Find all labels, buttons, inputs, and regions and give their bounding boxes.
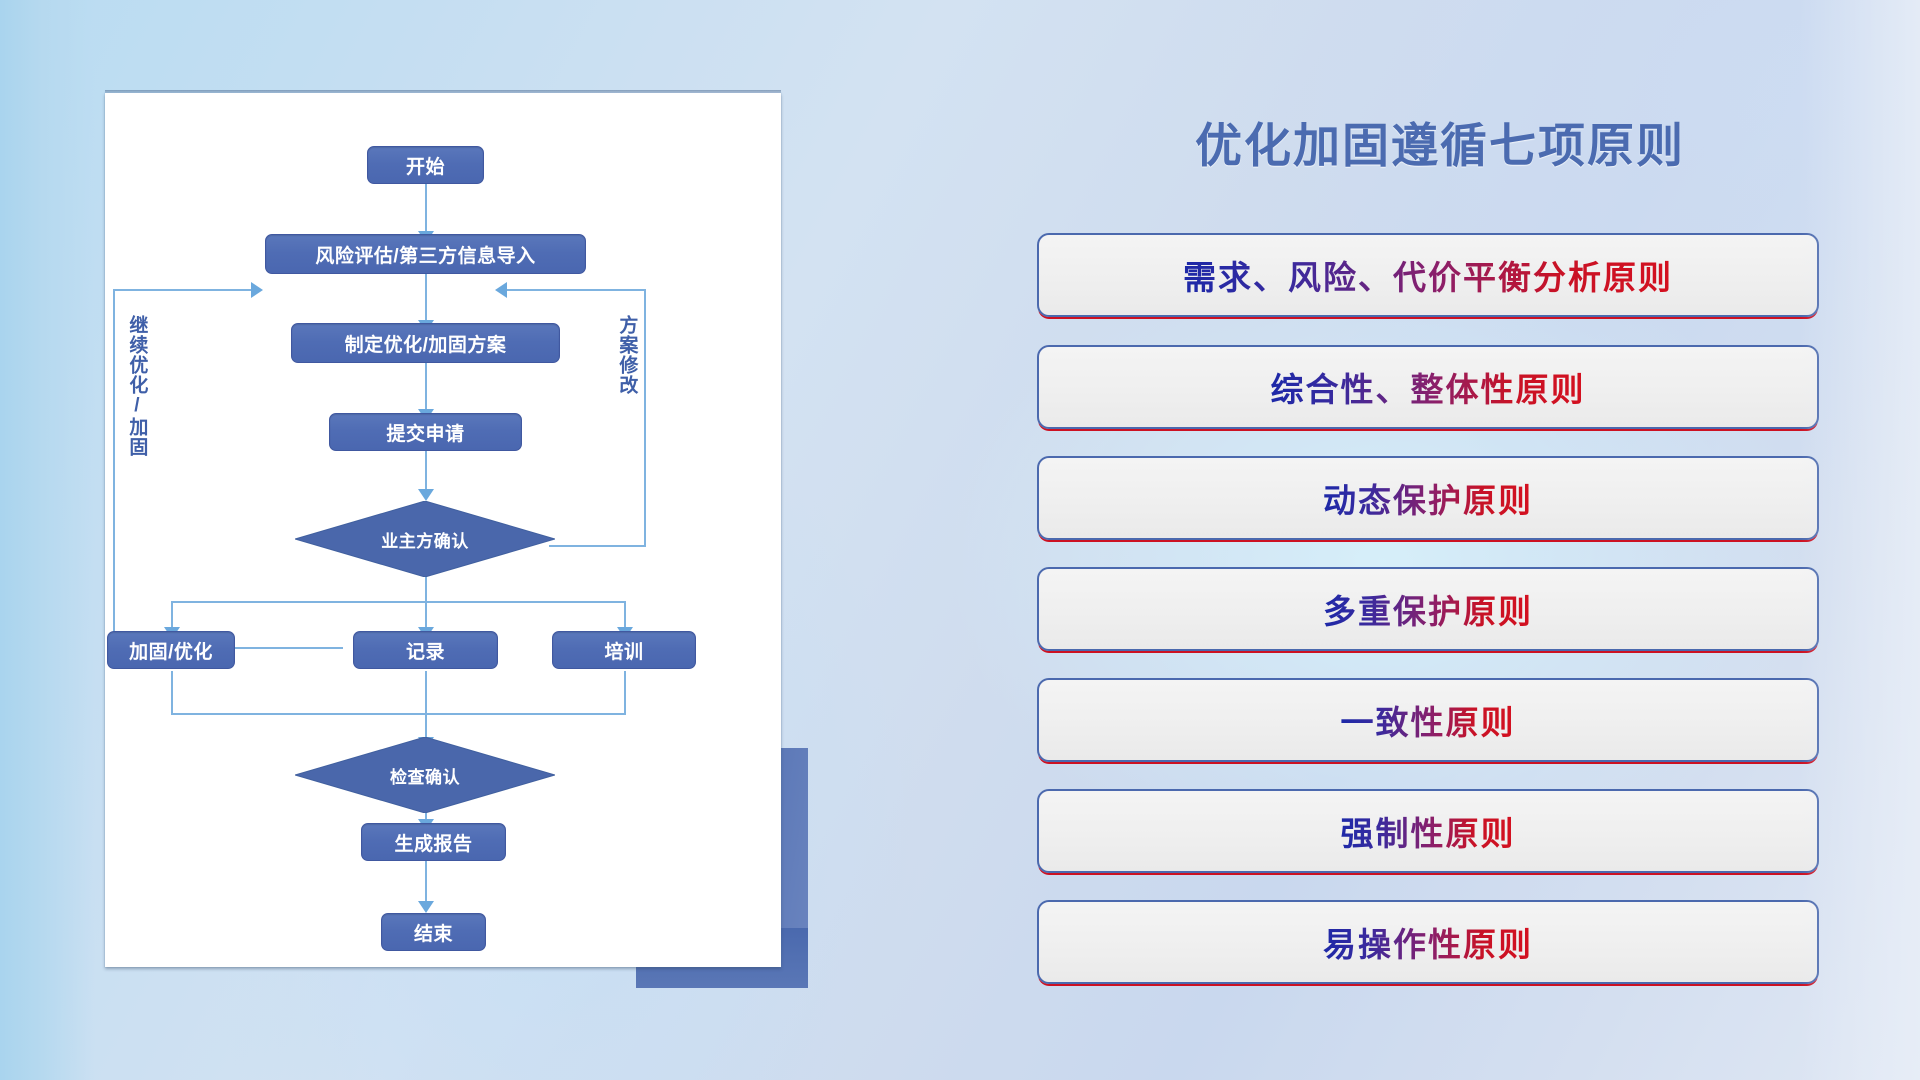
flow-node-owner-confirm[interactable]: 业主方确认	[295, 501, 555, 577]
flow-node-submit-label: 提交申请	[386, 419, 464, 446]
flow-node-record-label: 记录	[406, 637, 445, 664]
connector-report-end	[425, 861, 427, 905]
principle-item-7-label: 易操作性原则	[1323, 918, 1533, 966]
connector-branch-bus	[171, 601, 625, 603]
principle-item-2-label: 综合性、整体性原则	[1271, 363, 1586, 411]
connector-owner-down	[425, 577, 427, 603]
arrowhead-submit-owner	[418, 489, 434, 501]
principle-item-2[interactable]: 综合性、整体性原则	[1037, 345, 1819, 429]
edge-label-plan-revision: 方案修改	[617, 315, 636, 395]
slide-canvas: 开始 风险评估/第三方信息导入 制定优化/加固方案 提交申请 业主方确认 加固/…	[0, 0, 1920, 1080]
connector-right-to-plan	[505, 289, 645, 291]
connector-left-loop-top	[113, 289, 253, 291]
principles-title: 优化加固遵循七项原则	[1010, 107, 1870, 176]
connector-owner-right	[549, 545, 646, 547]
flow-node-report[interactable]: 生成报告	[361, 823, 506, 861]
flow-node-start-label: 开始	[406, 152, 445, 179]
connector-plan-submit	[425, 363, 427, 413]
principle-item-3-label: 动态保护原则	[1323, 474, 1533, 522]
flow-node-start[interactable]: 开始	[367, 146, 484, 184]
connector-risk-plan	[425, 271, 427, 323]
flow-node-owner-confirm-label: 业主方确认	[381, 527, 469, 552]
flow-node-training[interactable]: 培训	[552, 631, 696, 669]
flow-node-reinforce[interactable]: 加固/优化	[107, 631, 235, 669]
flow-node-plan-label: 制定优化/加固方案	[345, 330, 507, 357]
flow-node-reinforce-label: 加固/优化	[129, 637, 213, 664]
arrowhead-left-plan	[251, 282, 263, 298]
principle-item-5-label: 一致性原则	[1341, 696, 1516, 744]
principle-item-6[interactable]: 强制性原则	[1037, 789, 1819, 873]
connector-record-check	[425, 671, 427, 741]
flow-node-check-confirm[interactable]: 检查确认	[295, 737, 555, 813]
connector-merge-left	[171, 671, 173, 715]
flow-node-training-label: 培训	[604, 637, 643, 664]
arrowhead-report-end	[418, 901, 434, 913]
principle-item-1-label: 需求、风险、代价平衡分析原则	[1183, 251, 1673, 299]
flow-node-end[interactable]: 结束	[381, 913, 486, 951]
flow-node-end-label: 结束	[414, 919, 453, 946]
principle-item-5[interactable]: 一致性原则	[1037, 678, 1819, 762]
connector-right-up	[644, 289, 646, 547]
flow-node-report-label: 生成报告	[394, 829, 472, 856]
principles-panel: 优化加固遵循七项原则 需求、风险、代价平衡分析原则 综合性、整体性原则 动态保护…	[1010, 0, 1920, 1080]
principle-item-7[interactable]: 易操作性原则	[1037, 900, 1819, 984]
flow-node-record[interactable]: 记录	[353, 631, 498, 669]
flow-node-check-confirm-label: 检查确认	[390, 763, 460, 788]
principle-item-1[interactable]: 需求、风险、代价平衡分析原则	[1037, 233, 1819, 317]
flowchart-card: 开始 风险评估/第三方信息导入 制定优化/加固方案 提交申请 业主方确认 加固/…	[105, 93, 781, 967]
flow-node-risk-assessment-label: 风险评估/第三方信息导入	[315, 241, 535, 268]
flowchart-panel: 开始 风险评估/第三方信息导入 制定优化/加固方案 提交申请 业主方确认 加固/…	[0, 0, 860, 1080]
flow-node-plan[interactable]: 制定优化/加固方案	[291, 323, 560, 363]
principle-item-3[interactable]: 动态保护原则	[1037, 456, 1819, 540]
principle-item-6-label: 强制性原则	[1341, 807, 1516, 855]
principle-item-4-label: 多重保护原则	[1323, 585, 1533, 633]
connector-merge-bus	[171, 713, 626, 715]
connector-start-risk	[425, 181, 427, 234]
connector-submit-owner	[425, 451, 427, 493]
connector-merge-right	[624, 671, 626, 715]
flow-node-submit[interactable]: 提交申请	[329, 413, 522, 451]
edge-label-continue-optimize: 继续优化/加固	[127, 315, 146, 457]
flow-node-risk-assessment[interactable]: 风险评估/第三方信息导入	[265, 234, 586, 274]
principle-item-4[interactable]: 多重保护原则	[1037, 567, 1819, 651]
connector-left-loop-vertical	[113, 289, 115, 649]
arrowhead-right-plan	[495, 282, 507, 298]
